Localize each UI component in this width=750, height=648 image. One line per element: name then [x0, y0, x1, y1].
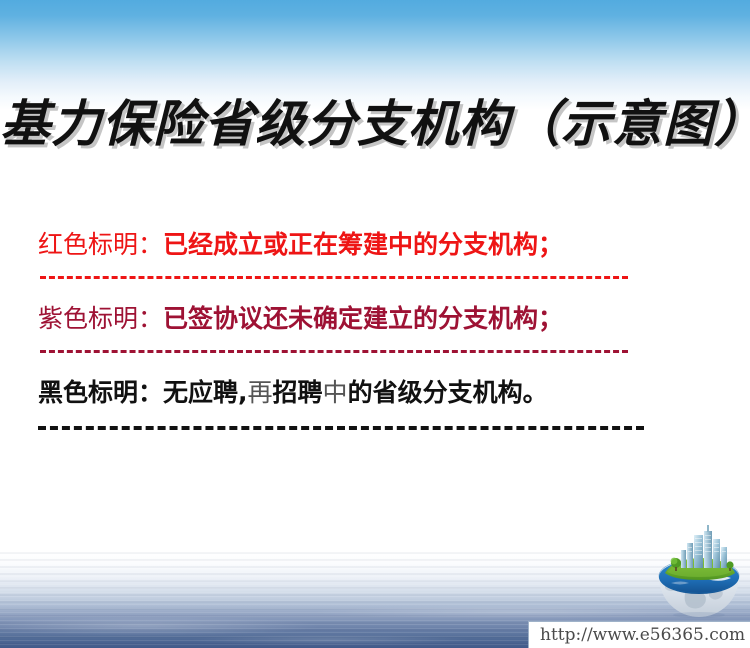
legend-divider-purple [40, 350, 628, 353]
legend-label-purple: 紫色标明： [38, 304, 163, 333]
legend-row-black: 黑色标明：无应聘,再招聘中的省级分支机构。 [38, 376, 712, 430]
legend-body-black-c: 的省级分支机构。 [348, 378, 548, 407]
page-title: 基力保险省级分支机构（示意图） [0, 96, 750, 152]
legend-row-purple: 紫色标明：已签协议还未确定建立的分支机构； [38, 302, 712, 353]
legend-label-black: 黑色标明： [38, 378, 163, 407]
legend-divider-red [40, 276, 628, 279]
legend-label-red: 红色标明： [38, 230, 163, 259]
legend-text-purple: 紫色标明：已签协议还未确定建立的分支机构； [38, 302, 712, 336]
legend-block: 红色标明：已经成立或正在筹建中的分支机构； 紫色标明：已签协议还未确定建立的分支… [38, 228, 712, 430]
legend-text-red: 红色标明：已经成立或正在筹建中的分支机构； [38, 228, 712, 262]
legend-body-purple-a: 已签协议 [163, 304, 263, 333]
legend-divider-black [38, 426, 644, 430]
website-url-text: http://www.e56365.com [529, 625, 745, 645]
legend-text-black: 黑色标明：无应聘,再招聘中的省级分支机构。 [38, 376, 712, 410]
legend-gap-one [38, 279, 712, 302]
globe-city-logo-icon [651, 523, 747, 619]
slide-canvas: 基力保险省级分支机构（示意图） 红色标明：已经成立或正在筹建中的分支机构； 紫色… [0, 0, 750, 648]
legend-body-black-a: 无应聘, [163, 378, 248, 407]
legend-body-black-light-a: 再 [248, 378, 273, 407]
legend-gap-two [38, 353, 712, 376]
website-url-badge[interactable]: http://www.e56365.com [528, 621, 750, 648]
legend-row-red: 红色标明：已经成立或正在筹建中的分支机构； [38, 228, 712, 279]
legend-body-red: 已经成立或正在筹建中的分支机构； [163, 230, 563, 259]
legend-body-black-light-b: 中 [323, 378, 348, 407]
legend-body-purple-b: 还未确定建立的分支机构； [263, 304, 563, 333]
legend-body-black-b: 招聘 [273, 378, 323, 407]
